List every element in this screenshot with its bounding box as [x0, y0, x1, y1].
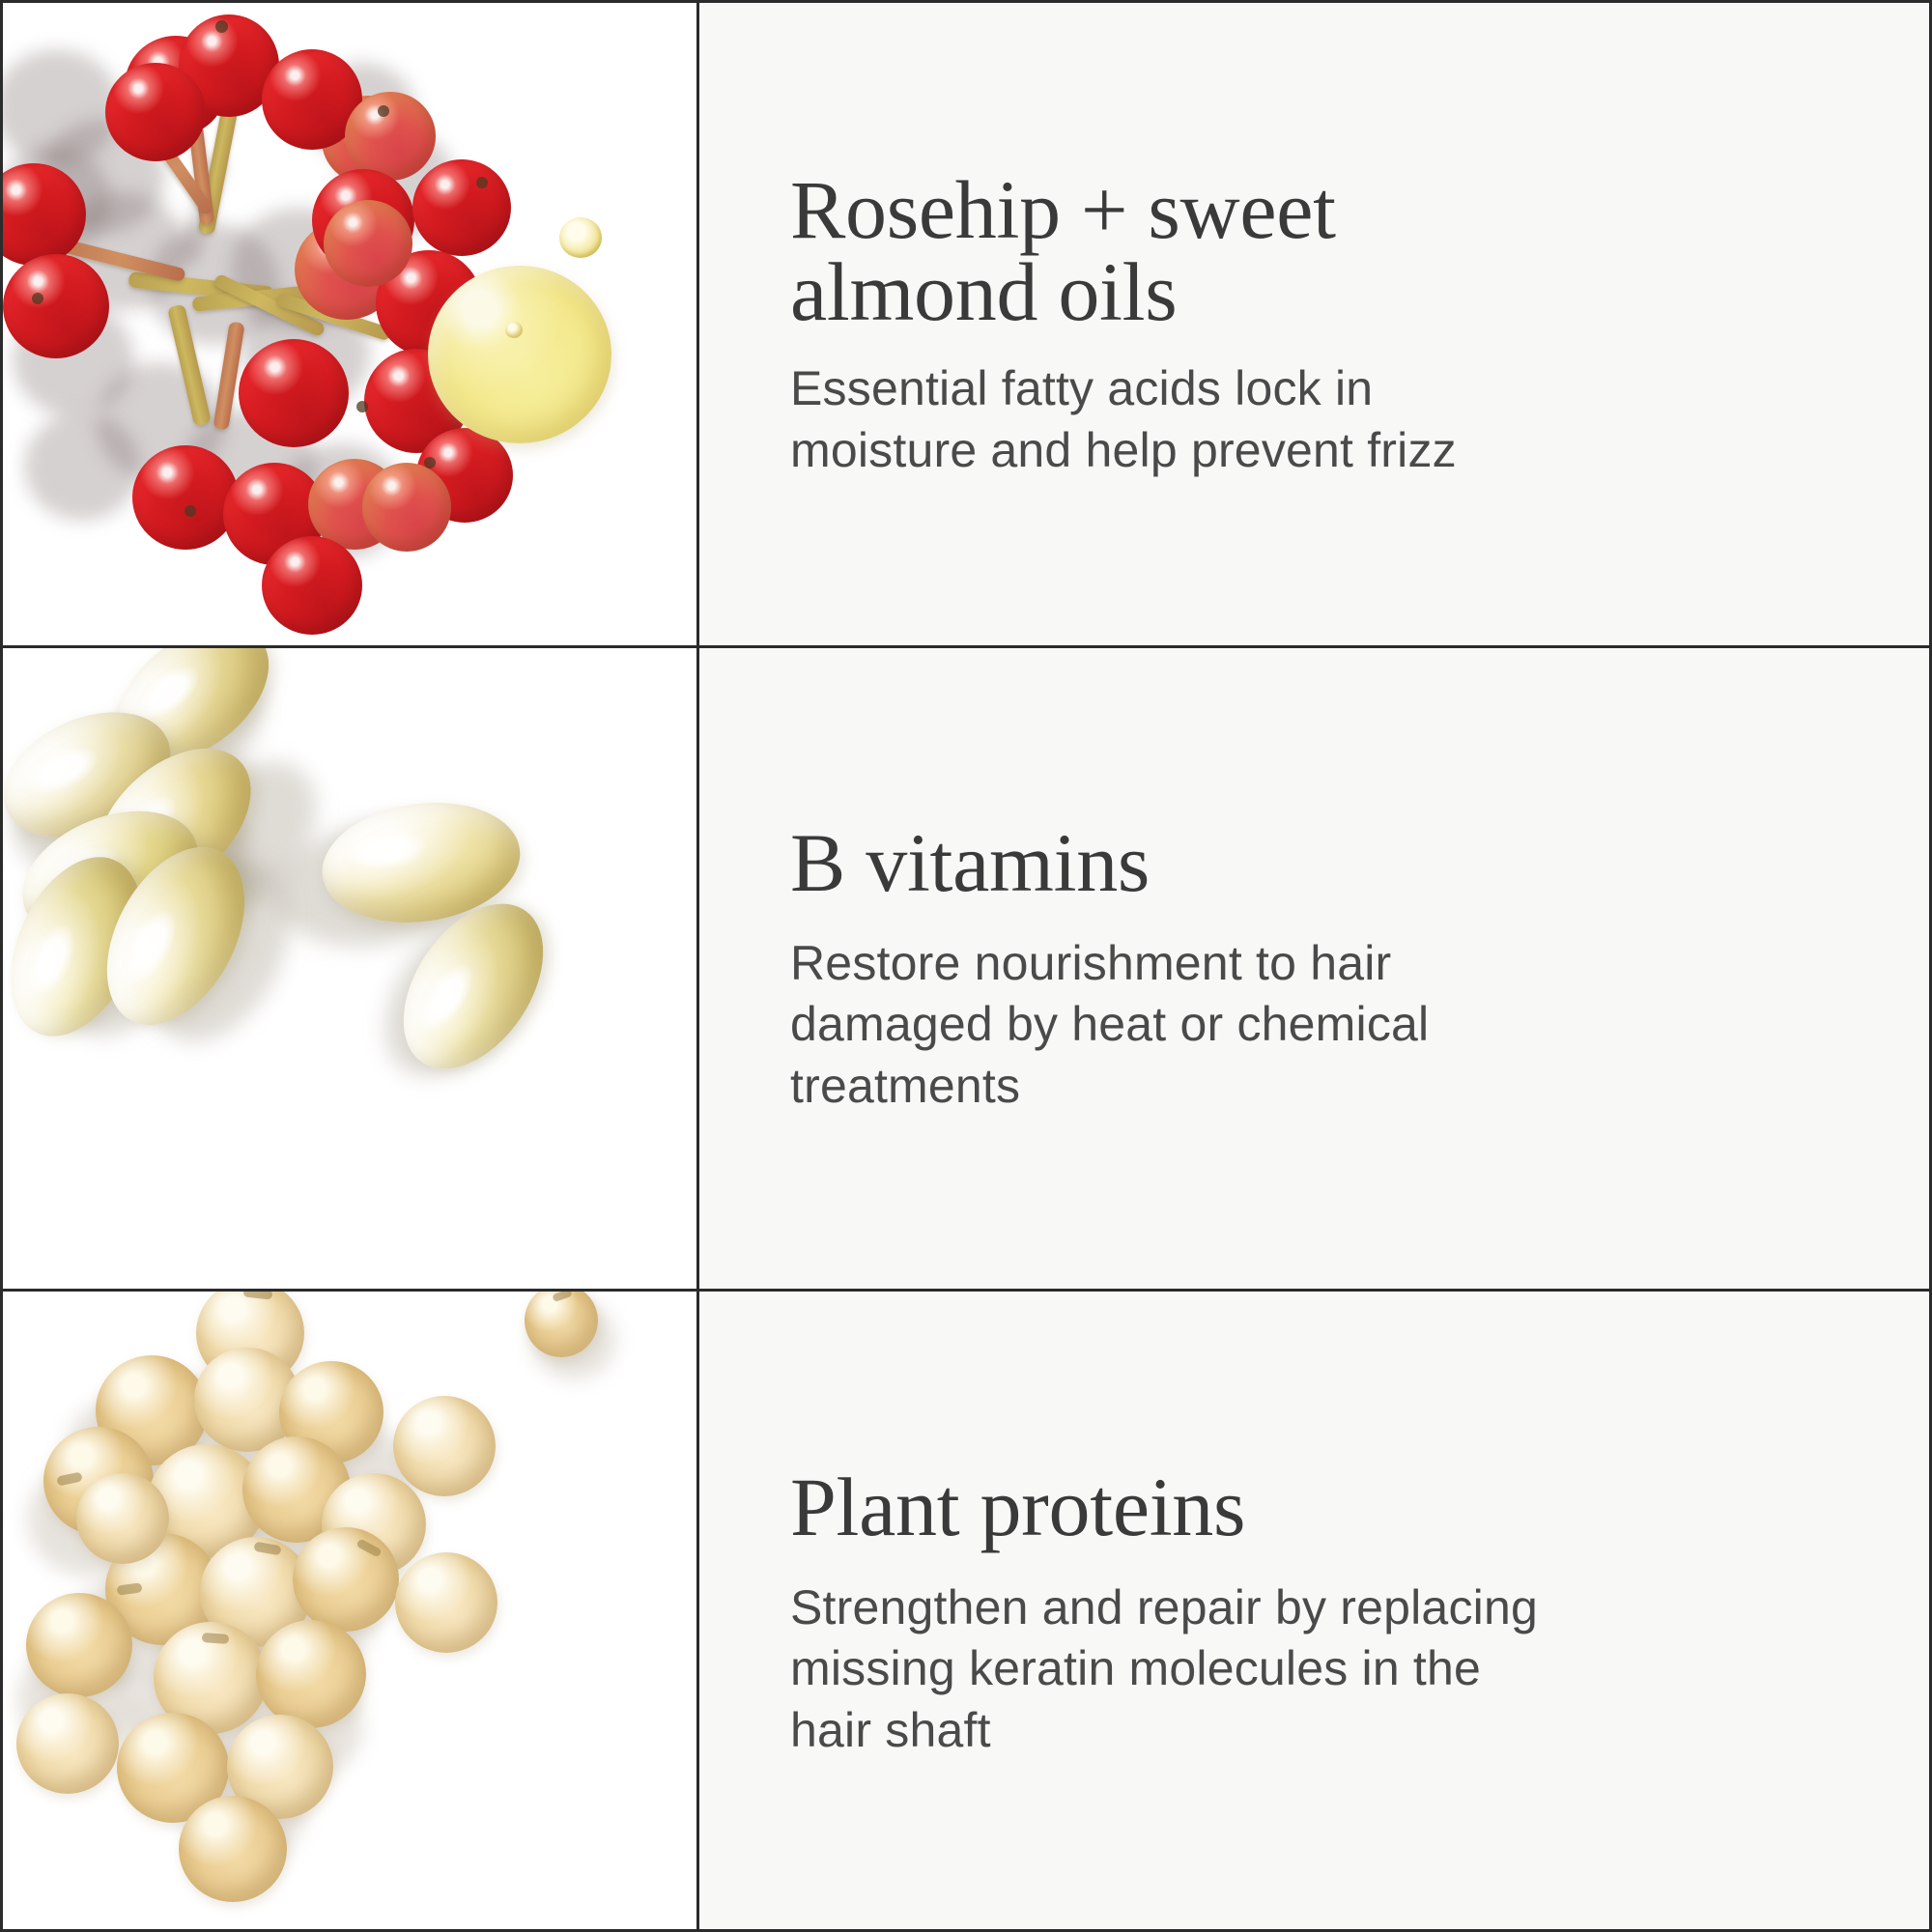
oil-droplet-large [428, 266, 611, 443]
panel-2-body: Restore nourishment to hair damaged by h… [790, 933, 1553, 1118]
panel-2-copy: B vitamins Restore nourishment to hair d… [699, 647, 1932, 1292]
panel-b-vitamins: B vitamins Restore nourishment to hair d… [3, 647, 1932, 1292]
panel-3-heading: Plant proteins [790, 1466, 1592, 1548]
panel-2-heading: B vitamins [790, 822, 1592, 904]
oil-droplet-small [559, 217, 602, 258]
panel-1-image [3, 3, 696, 647]
horizontal-divider-1 [3, 645, 1932, 648]
panel-3-copy: Plant proteins Strengthen and repair by … [699, 1292, 1932, 1932]
vertical-divider [696, 3, 699, 1932]
panel-plant-proteins: Plant proteins Strengthen and repair by … [3, 1292, 1932, 1932]
panel-3-image [3, 1292, 696, 1932]
panel-1-heading: Rosehip + sweet almond oils [790, 169, 1592, 333]
panel-3-body: Strengthen and repair by replacing missi… [790, 1577, 1553, 1762]
panel-2-image [3, 647, 696, 1292]
horizontal-divider-2 [3, 1289, 1932, 1292]
panel-rosehip-sweet-almond-oils: Rosehip + sweet almond oils Essential fa… [3, 3, 1932, 647]
panel-1-copy: Rosehip + sweet almond oils Essential fa… [699, 3, 1932, 647]
panel-1-body: Essential fatty acids lock in moisture a… [790, 358, 1553, 481]
ingredient-benefits-infographic: Rosehip + sweet almond oils Essential fa… [0, 0, 1932, 1932]
